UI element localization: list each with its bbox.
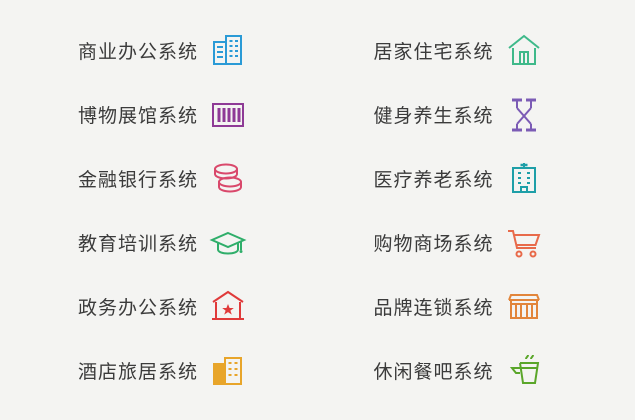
list-item-label: 博物展馆系统: [78, 101, 198, 128]
list-item-label: 居家住宅系统: [374, 37, 494, 64]
list-item[interactable]: 品牌连锁系统: [318, 274, 635, 338]
list-item[interactable]: 博物展馆系统: [0, 82, 318, 146]
list-item[interactable]: 政务办公系统: [0, 274, 318, 338]
government-building-icon: [208, 286, 248, 326]
list-item[interactable]: 购物商场系统: [318, 210, 635, 274]
list-item[interactable]: 健身养生系统: [318, 82, 635, 146]
list-item-label: 商业办公系统: [78, 37, 198, 64]
fitness-dumbbell-icon: [504, 94, 544, 134]
list-item-label: 政务办公系统: [78, 293, 198, 320]
icon-label-board: 商业办公系统: [0, 0, 635, 420]
museum-exhibition-icon: [208, 94, 248, 134]
list-item-label: 休闲餐吧系统: [374, 357, 494, 384]
list-item[interactable]: 休闲餐吧系统: [318, 338, 635, 402]
list-item-label: 健身养生系统: [374, 101, 494, 128]
cafe-drink-cup-icon: [504, 350, 544, 390]
items-grid: 商业办公系统: [0, 0, 635, 420]
list-item[interactable]: 居家住宅系统: [318, 18, 635, 82]
graduation-cap-icon: [208, 222, 248, 262]
list-item[interactable]: 教育培训系统: [0, 210, 318, 274]
hotel-building-icon: [208, 350, 248, 390]
house-home-icon: [504, 30, 544, 70]
list-item-label: 教育培训系统: [78, 229, 198, 256]
list-item-label: 酒店旅居系统: [78, 357, 198, 384]
coins-stack-icon: [208, 158, 248, 198]
list-item-label: 医疗养老系统: [374, 165, 494, 192]
shopping-cart-icon: [504, 222, 544, 262]
hospital-cross-icon: [504, 158, 544, 198]
office-building-icon: [208, 30, 248, 70]
list-item[interactable]: 商业办公系统: [0, 18, 318, 82]
list-item[interactable]: 医疗养老系统: [318, 146, 635, 210]
storefront-shop-icon: [504, 286, 544, 326]
list-item-label: 金融银行系统: [78, 165, 198, 192]
list-item[interactable]: 酒店旅居系统: [0, 338, 318, 402]
list-item-label: 购物商场系统: [374, 229, 494, 256]
list-item-label: 品牌连锁系统: [374, 293, 494, 320]
list-item[interactable]: 金融银行系统: [0, 146, 318, 210]
